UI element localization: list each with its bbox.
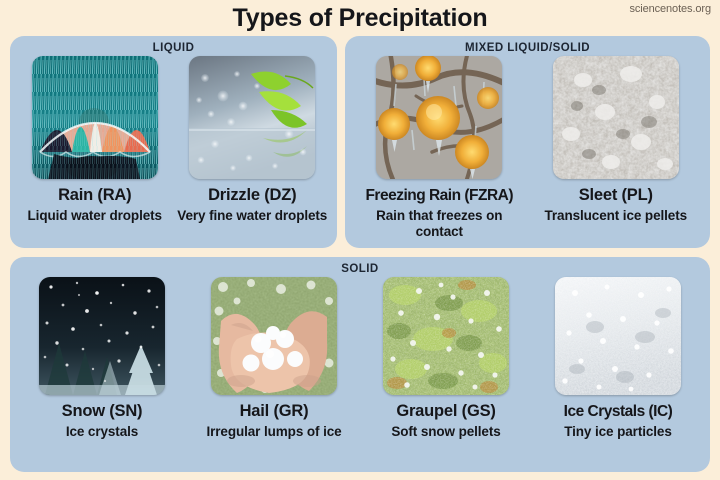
page-title: Types of Precipitation xyxy=(233,6,488,31)
section-label-solid: SOLID xyxy=(16,262,704,277)
freezing-rain-iced-berries-photo xyxy=(376,56,502,179)
card-title: Rain (RA) xyxy=(58,186,131,205)
sleet-ice-pellets-photo xyxy=(553,56,679,179)
card-title: Hail (GR) xyxy=(240,402,309,421)
card-drizzle[interactable]: Drizzle (DZ) Very fine water droplets xyxy=(174,56,332,224)
section-panel-liquid: LIQUID xyxy=(10,36,337,248)
card-title: Drizzle (DZ) xyxy=(208,186,296,205)
section-panel-mixed: MIXED LIQUID/SOLID xyxy=(345,36,710,248)
card-title: Graupel (GS) xyxy=(396,402,495,421)
card-graupel[interactable]: Graupel (GS) Soft snow pellets xyxy=(360,277,532,440)
section-label-liquid: LIQUID xyxy=(16,41,331,56)
section-panel-solid: SOLID xyxy=(10,257,710,472)
card-description: Soft snow pellets xyxy=(391,424,500,440)
section-label-mixed: MIXED LIQUID/SOLID xyxy=(351,41,704,56)
source-watermark: sciencenotes.org xyxy=(629,3,711,15)
card-rain[interactable]: Rain (RA) Liquid water droplets xyxy=(16,56,174,224)
page-header: Types of Precipitation sciencenotes.org xyxy=(0,0,720,36)
card-description: Irregular lumps of ice xyxy=(206,424,341,440)
section-cards-mixed: Freezing Rain (FZRA) Rain that freezes o… xyxy=(351,56,704,241)
snow-night-trees-photo xyxy=(39,277,165,395)
card-title: Freezing Rain (FZRA) xyxy=(365,186,513,205)
card-description: Rain that freezes on contact xyxy=(351,208,528,240)
card-hail[interactable]: Hail (GR) Irregular lumps of ice xyxy=(188,277,360,440)
card-freezing-rain[interactable]: Freezing Rain (FZRA) Rain that freezes o… xyxy=(351,56,528,240)
card-description: Translucent ice pellets xyxy=(544,208,687,224)
top-row: LIQUID xyxy=(10,36,710,248)
section-cards-solid: Snow (SN) Ice crystals xyxy=(16,277,704,465)
bottom-row: SOLID xyxy=(10,257,710,472)
graupel-on-grass-photo xyxy=(383,277,509,395)
card-title: Ice Crystals (IC) xyxy=(564,402,673,421)
rain-umbrella-photo xyxy=(32,56,158,179)
precipitation-board: LIQUID xyxy=(0,36,720,480)
card-title: Snow (SN) xyxy=(62,402,143,421)
card-description: Liquid water droplets xyxy=(28,208,162,224)
hail-in-hands-photo xyxy=(211,277,337,395)
card-title: Sleet (PL) xyxy=(579,186,653,205)
card-description: Very fine water droplets xyxy=(177,208,327,224)
card-description: Ice crystals xyxy=(66,424,138,440)
drizzle-leaves-photo xyxy=(189,56,315,179)
ice-crystals-texture-photo xyxy=(555,277,681,395)
card-description: Tiny ice particles xyxy=(564,424,672,440)
card-snow[interactable]: Snow (SN) Ice crystals xyxy=(16,277,188,440)
section-cards-liquid: Rain (RA) Liquid water droplets xyxy=(16,56,331,241)
card-sleet[interactable]: Sleet (PL) Translucent ice pellets xyxy=(528,56,705,224)
card-ice-crystals[interactable]: Ice Crystals (IC) Tiny ice particles xyxy=(532,277,704,440)
